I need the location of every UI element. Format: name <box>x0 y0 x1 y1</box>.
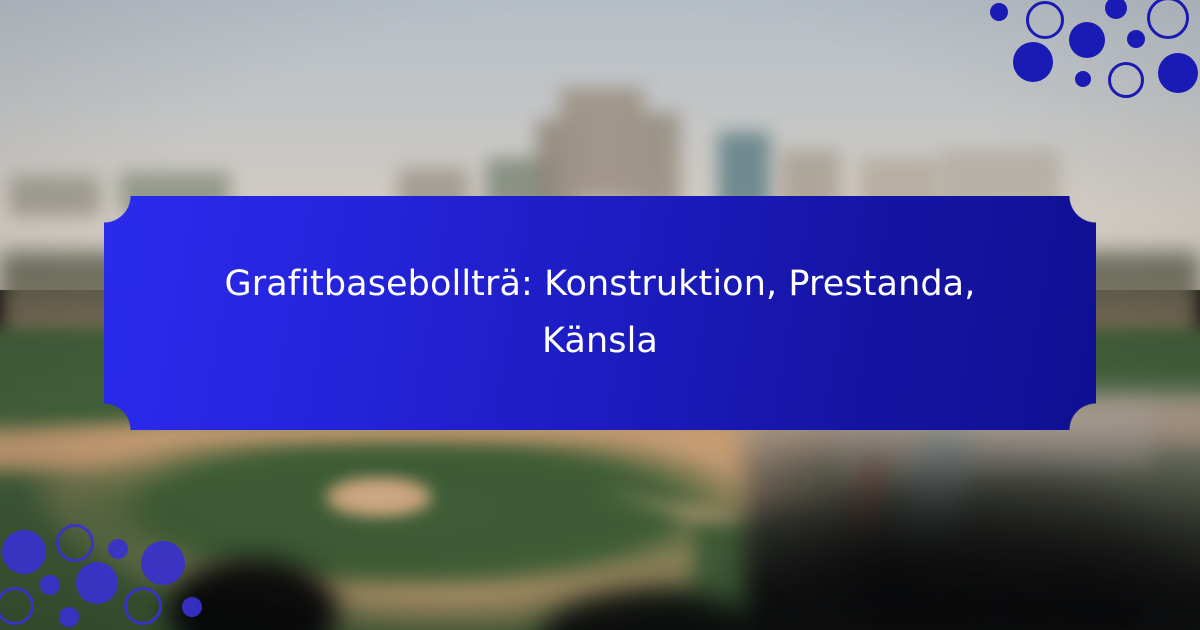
decorative-circle-filled <box>2 530 46 574</box>
decorative-circle-filled <box>1158 53 1198 93</box>
title-banner: Grafitbasebollträ: Konstruktion, Prestan… <box>104 196 1096 430</box>
decorative-circle-outline <box>56 524 94 562</box>
decorative-circle-filled <box>59 607 79 627</box>
decorative-circle-filled <box>76 562 118 604</box>
circle-cluster-top-right <box>988 0 1200 104</box>
decorative-circle-outline <box>124 587 162 625</box>
decorative-circle-filled <box>108 539 128 559</box>
decorative-circle-filled <box>1013 42 1053 82</box>
decorative-circle-filled <box>1127 30 1145 48</box>
decorative-circle-outline <box>1108 62 1144 98</box>
page-title: Grafitbasebollträ: Konstruktion, Prestan… <box>104 219 1096 406</box>
decorative-circle-outline <box>1026 1 1064 39</box>
decorative-circle-filled <box>990 3 1008 21</box>
circle-cluster-bottom-left <box>0 518 212 630</box>
decorative-circle-filled <box>1105 0 1127 19</box>
decorative-circle-filled <box>40 575 60 595</box>
decorative-circle-filled <box>141 541 185 585</box>
decorative-circle-outline <box>1147 0 1189 39</box>
decorative-circle-filled <box>182 597 202 617</box>
share-card: Grafitbasebollträ: Konstruktion, Prestan… <box>0 0 1200 630</box>
decorative-circle-outline <box>0 587 34 625</box>
decorative-circle-filled <box>1069 22 1105 58</box>
decorative-circle-filled <box>1075 71 1091 87</box>
